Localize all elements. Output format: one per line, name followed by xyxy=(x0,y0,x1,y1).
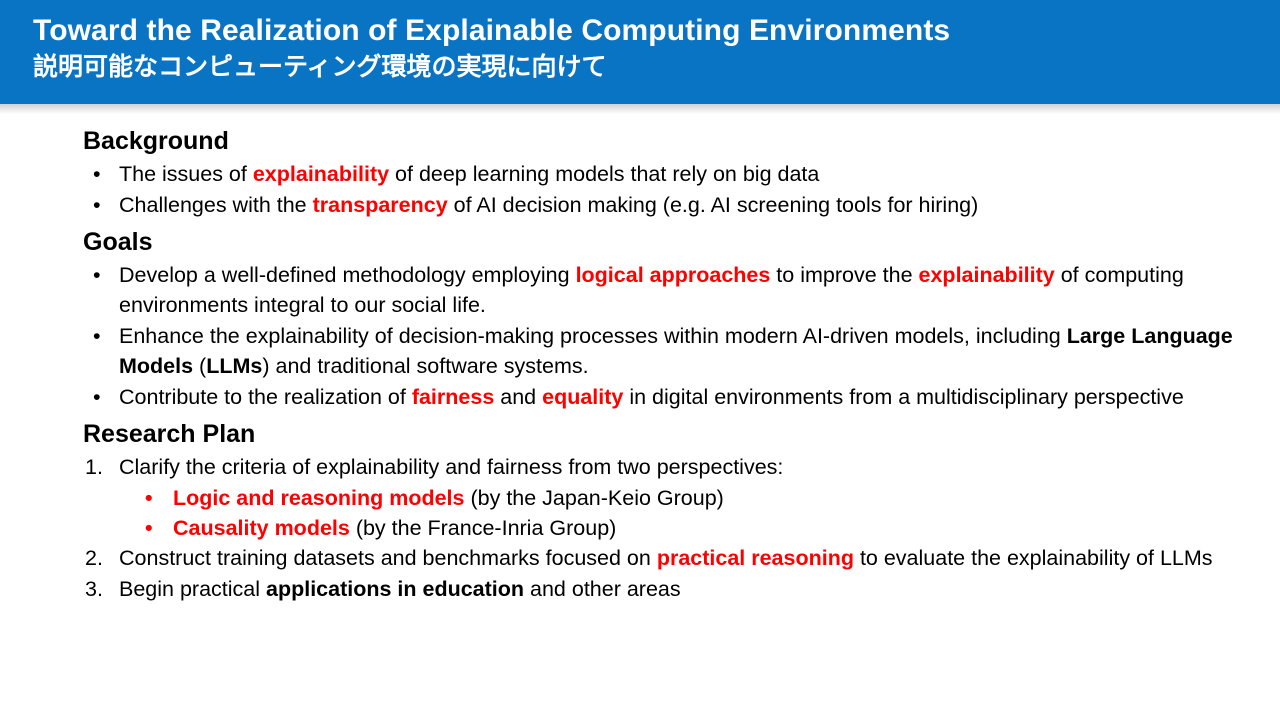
list-item-text: Begin practical applications in educatio… xyxy=(119,574,1240,604)
list-item-text: Contribute to the realization of fairnes… xyxy=(119,382,1240,412)
sub-list-item-text: Causality models (by the France-Inria Gr… xyxy=(173,513,1240,543)
bullet-list: 1.Clarify the criteria of explainability… xyxy=(83,452,1240,604)
sub-bullet-marker-icon: • xyxy=(145,483,173,513)
list-number-marker: 2. xyxy=(83,543,119,573)
section-goals: Goals•Develop a well-defined methodology… xyxy=(83,226,1240,412)
sub-bullet-marker-icon: • xyxy=(145,513,173,543)
list-item-text: Clarify the criteria of explainability a… xyxy=(119,452,1240,482)
bullet-marker-icon: • xyxy=(83,321,119,351)
sub-list-item: •Logic and reasoning models (by the Japa… xyxy=(145,483,1240,513)
list-item: 2.Construct training datasets and benchm… xyxy=(83,543,1240,573)
bullet-marker-icon: • xyxy=(83,382,119,412)
section-heading: Goals xyxy=(83,226,1240,258)
slide-subtitle-japanese: 説明可能なコンピューティング環境の実現に向けて xyxy=(33,50,1280,84)
section-heading: Research Plan xyxy=(83,418,1240,450)
banner-shadow xyxy=(0,104,1280,114)
sub-list-item-text: Logic and reasoning models (by the Japan… xyxy=(173,483,1240,513)
header-banner: Toward the Realization of Explainable Co… xyxy=(0,0,1280,104)
list-item-text: Challenges with the transparency of AI d… xyxy=(119,190,1240,220)
sub-list-item: •Causality models (by the France-Inria G… xyxy=(145,513,1240,543)
list-item-text: Develop a well-defined methodology emplo… xyxy=(119,260,1240,320)
section-background: Background•The issues of explainability … xyxy=(83,125,1240,220)
section-research-plan: Research Plan1.Clarify the criteria of e… xyxy=(83,418,1240,604)
list-item: •Contribute to the realization of fairne… xyxy=(83,382,1240,412)
bullet-marker-icon: • xyxy=(83,159,119,189)
bullet-list: •The issues of explainability of deep le… xyxy=(83,159,1240,220)
list-item: •Develop a well-defined methodology empl… xyxy=(83,260,1240,320)
list-number-marker: 3. xyxy=(83,574,119,604)
slide-body: Background•The issues of explainability … xyxy=(0,114,1280,720)
list-item: •Enhance the explainability of decision-… xyxy=(83,321,1240,381)
slide-title: Toward the Realization of Explainable Co… xyxy=(33,12,1280,50)
list-item: •Challenges with the transparency of AI … xyxy=(83,190,1240,220)
sub-bullet-list: •Logic and reasoning models (by the Japa… xyxy=(83,483,1240,543)
slide: Toward the Realization of Explainable Co… xyxy=(0,0,1280,720)
list-item: 3.Begin practical applications in educat… xyxy=(83,574,1240,604)
list-number-marker: 1. xyxy=(83,452,119,482)
list-item-text: The issues of explainability of deep lea… xyxy=(119,159,1240,189)
list-item-text: Construct training datasets and benchmar… xyxy=(119,543,1240,573)
list-item-text: Enhance the explainability of decision-m… xyxy=(119,321,1240,381)
bullet-list: •Develop a well-defined methodology empl… xyxy=(83,260,1240,412)
sections-container: Background•The issues of explainability … xyxy=(83,125,1240,604)
bullet-marker-icon: • xyxy=(83,190,119,220)
list-item: •The issues of explainability of deep le… xyxy=(83,159,1240,189)
bullet-marker-icon: • xyxy=(83,260,119,290)
section-heading: Background xyxy=(83,125,1240,157)
list-item: 1.Clarify the criteria of explainability… xyxy=(83,452,1240,482)
